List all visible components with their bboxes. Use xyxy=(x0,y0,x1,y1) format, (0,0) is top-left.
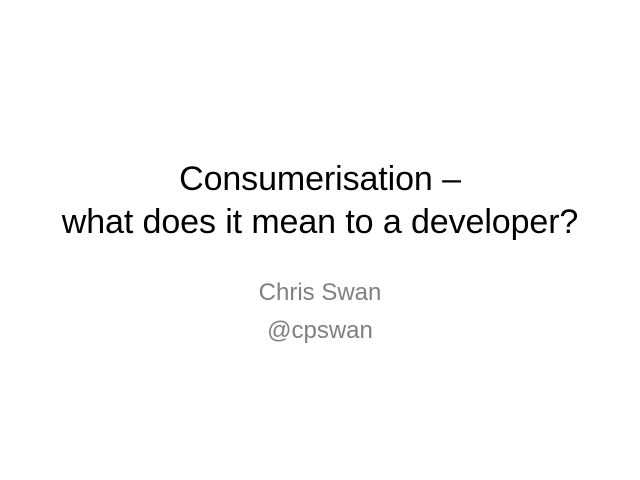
slide-title-line-2: what does it mean to a developer? xyxy=(0,201,640,244)
presenter-name: Chris Swan xyxy=(0,274,640,312)
slide-title-line-1: Consumerisation – xyxy=(0,158,640,201)
slide-subtitle: Chris Swan @cpswan xyxy=(0,274,640,350)
presenter-handle: @cpswan xyxy=(0,312,640,350)
presentation-title-slide: Consumerisation – what does it mean to a… xyxy=(0,0,640,480)
slide-title: Consumerisation – what does it mean to a… xyxy=(0,158,640,244)
